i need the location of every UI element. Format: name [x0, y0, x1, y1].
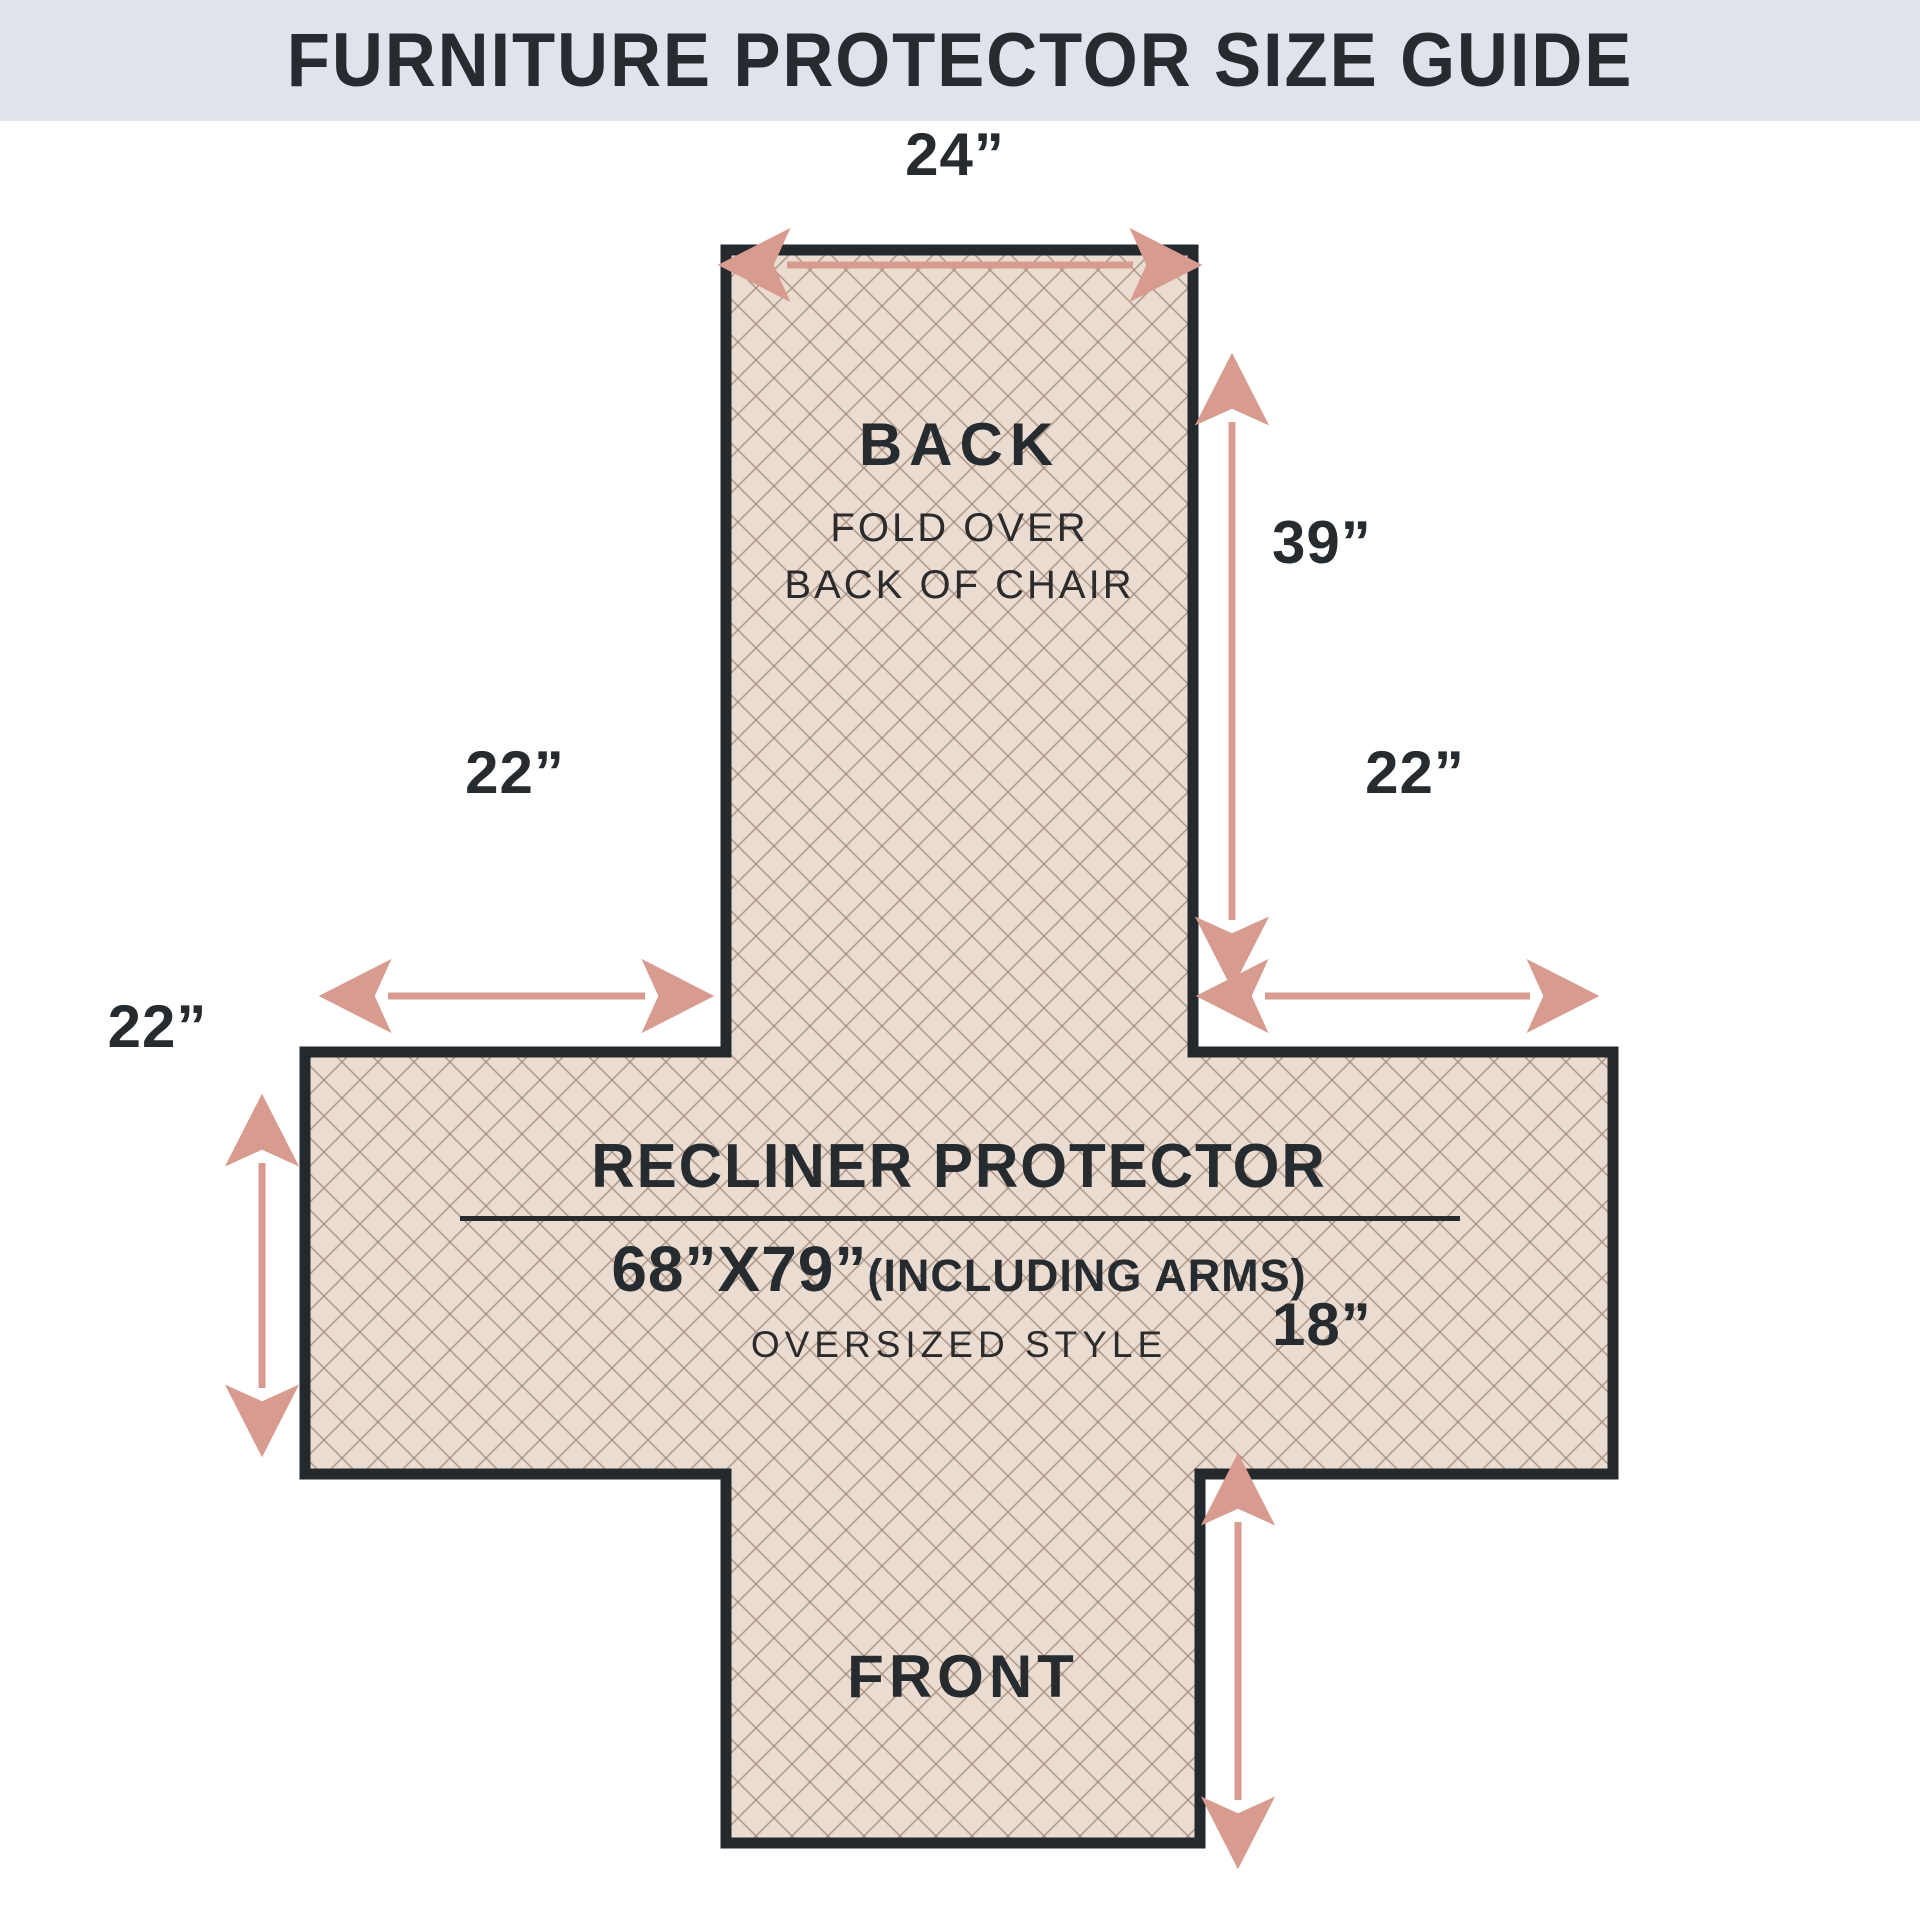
dimension-label-back-width: 24”	[740, 120, 1170, 189]
dimension-label-front-height: 18”	[1272, 1290, 1372, 1359]
product-title: RECLINER PROTECTOR	[325, 1131, 1594, 1202]
back-panel-label: BACK	[726, 410, 1193, 479]
protector-diagram	[0, 0, 1920, 1920]
product-size-primary: 68”X79”	[611, 1233, 867, 1305]
dimension-label-arm-right: 22”	[1255, 738, 1575, 807]
protector-shape	[305, 250, 1613, 1843]
back-instruction-line-2: BACK OF CHAIR	[696, 557, 1223, 614]
front-panel-label: FRONT	[726, 1642, 1200, 1711]
back-instruction-line-1: FOLD OVER	[696, 500, 1223, 557]
product-subtitle: OVERSIZED STYLE	[305, 1324, 1613, 1366]
dimension-label-back-height: 39”	[1272, 508, 1372, 577]
dimension-label-arm-height: 22”	[75, 992, 240, 1061]
back-panel-instruction: FOLD OVER BACK OF CHAIR	[696, 500, 1223, 614]
product-size-note: (INCLUDING ARMS)	[867, 1250, 1306, 1301]
dimension-label-arm-left: 22”	[355, 738, 675, 807]
title-divider	[460, 1216, 1460, 1221]
size-guide-page: FURNITURE PROTECTOR SIZE GUIDE	[0, 0, 1920, 1920]
product-size-line: 68”X79”(INCLUDING ARMS)	[305, 1232, 1613, 1306]
